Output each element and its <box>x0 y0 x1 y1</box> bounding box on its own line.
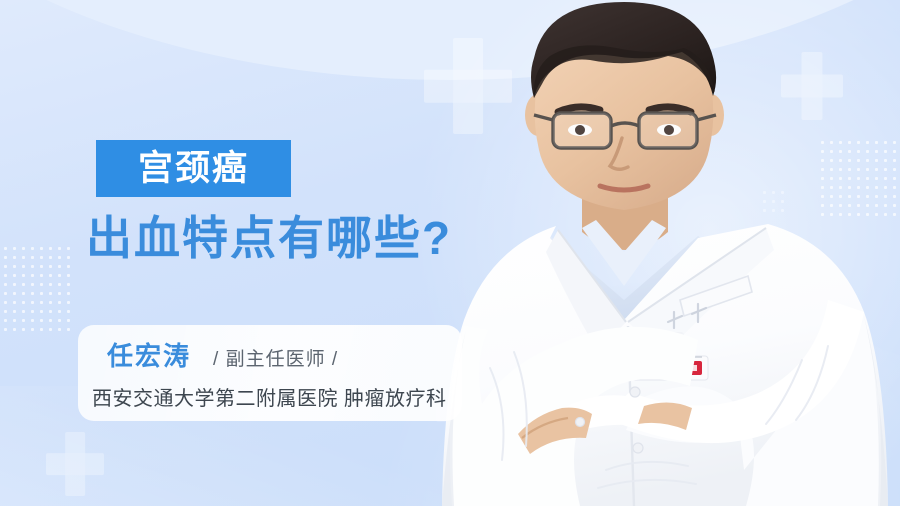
headline-question: 出血特点有哪些? <box>86 210 452 268</box>
doctor-title: / 副主任医师 / <box>213 344 338 371</box>
video-thumbnail: 1217 <box>0 0 900 506</box>
doctor-affiliation: 西安交通大学第二附属医院 肿瘤放疗科 <box>92 382 447 411</box>
topic-badge-label: 宫颈癌 <box>138 151 249 186</box>
doctor-name: 任宏涛 <box>107 336 191 373</box>
doctor-name-row: 任宏涛 / 副主任医师 / <box>107 336 338 373</box>
topic-badge: 宫颈癌 <box>96 140 291 197</box>
text-content-block: 宫颈癌 出血特点有哪些? 任宏涛 / 副主任医师 / 西安交通大学第二附属医院 … <box>0 0 520 506</box>
